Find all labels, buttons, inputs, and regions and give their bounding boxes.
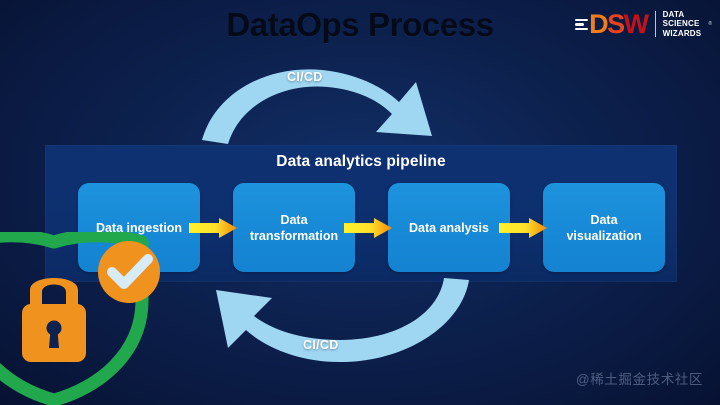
lock-icon bbox=[22, 278, 86, 362]
logo-word-wizards: WIZARDS bbox=[663, 29, 702, 39]
registered-trademark-icon: ® bbox=[708, 21, 712, 27]
slide-canvas: DataOps Process D S W DATA SCIENCE WIZAR… bbox=[0, 0, 720, 405]
stage-label: Data transformation bbox=[250, 212, 338, 244]
logo-bars-icon bbox=[575, 18, 588, 31]
logo-wordmark: DATA SCIENCE WIZARDS bbox=[663, 10, 702, 39]
pipeline-stage-data-transformation[interactable]: Data transformation bbox=[233, 183, 355, 272]
stage-label: Data analysis bbox=[409, 220, 489, 236]
pipeline-stage-data-analysis[interactable]: Data analysis bbox=[388, 183, 510, 272]
logo-letter-w: W bbox=[624, 11, 648, 38]
watermark: @稀土掘金技术社区 bbox=[576, 368, 703, 388]
cicd-top-label: CI/CD bbox=[287, 70, 323, 84]
stage-label: Data visualization bbox=[566, 212, 641, 244]
dsw-logo: D S W DATA SCIENCE WIZARDS ® bbox=[575, 8, 712, 40]
dsw-logo-mark: D S W bbox=[575, 11, 648, 38]
logo-letter-s: S bbox=[607, 11, 624, 38]
check-mark-badge-icon bbox=[96, 239, 162, 305]
flow-arrow-icon-1 bbox=[189, 218, 237, 238]
flow-arrow-icon-3 bbox=[499, 218, 547, 238]
cicd-top-arrow-icon bbox=[196, 52, 451, 147]
logo-divider bbox=[655, 11, 656, 37]
logo-word-science: SCIENCE bbox=[663, 19, 702, 29]
cicd-bottom-arrow-icon bbox=[190, 276, 475, 368]
flow-arrow-icon-2 bbox=[344, 218, 392, 238]
pipeline-stage-data-visualization[interactable]: Data visualization bbox=[543, 183, 665, 272]
logo-letter-d: D bbox=[589, 11, 607, 38]
logo-word-data: DATA bbox=[663, 10, 702, 20]
pipeline-title: Data analytics pipeline bbox=[45, 153, 677, 171]
cicd-bottom-label: CI/CD bbox=[303, 338, 339, 352]
